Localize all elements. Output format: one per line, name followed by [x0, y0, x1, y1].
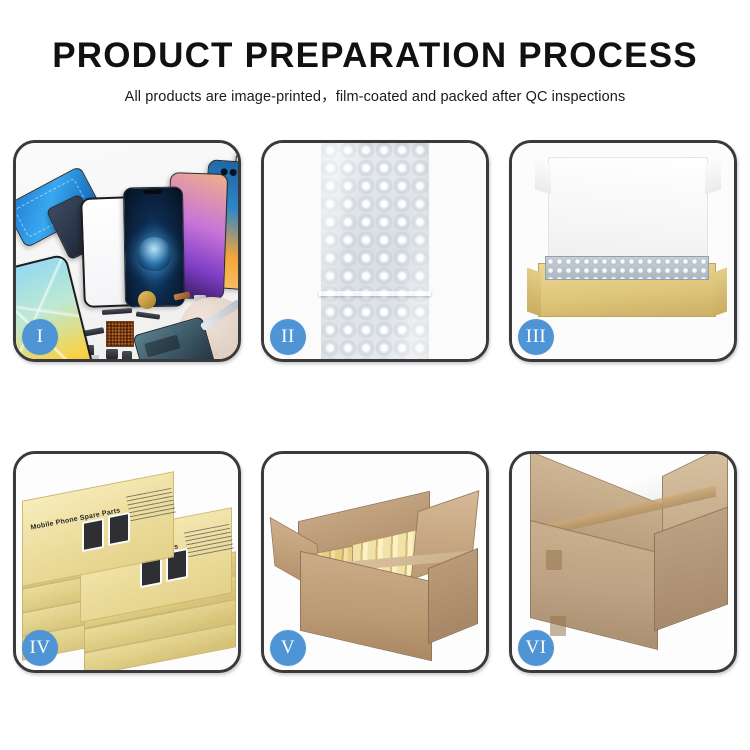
background-right	[424, 143, 486, 359]
process-step-2: II	[261, 140, 489, 362]
phone-notch	[143, 190, 163, 194]
step-badge-1: I	[22, 319, 58, 355]
jellyfish-wallpaper	[137, 237, 172, 272]
process-step-grid: I II III	[0, 138, 750, 683]
carton-tape-tab-lower	[550, 616, 566, 636]
plastic-sheen	[321, 143, 429, 359]
process-step-1: I	[13, 140, 241, 362]
part-vibrator	[122, 351, 132, 359]
process-step-4: Mobile Phone Spare Parts Mobile Phone Sp…	[13, 451, 241, 673]
step-badge-6: VI	[518, 630, 554, 666]
page-title: PRODUCT PREPARATION PROCESS	[0, 0, 750, 76]
part-antenna-flex	[136, 311, 160, 319]
phone-jellyfish-wallpaper	[123, 186, 185, 307]
tray-flap-left	[527, 267, 541, 316]
page-subtitle: All products are image-printed，film-coat…	[0, 76, 750, 106]
process-step-6: VI	[509, 451, 737, 673]
carton-tape-tab-upper	[546, 550, 562, 570]
kraft-box-stack: Mobile Phone Spare Parts Mobile Phone Sp…	[22, 466, 238, 666]
step-badge-4: IV	[22, 630, 58, 666]
step-badge-2: II	[270, 319, 306, 355]
part-speaker-coil	[138, 291, 156, 309]
process-step-5: V	[261, 451, 489, 673]
part-button-cap	[106, 349, 118, 359]
page-header: PRODUCT PREPARATION PROCESS All products…	[0, 0, 750, 106]
bubble-wrapped-contents	[545, 256, 709, 280]
step-badge-5: V	[270, 630, 306, 666]
part-contact-grid	[106, 321, 134, 347]
kraft-box-tray	[538, 263, 716, 317]
process-step-3: III	[509, 140, 737, 362]
tray-flap-right	[713, 267, 727, 316]
bubble-wrap-seam	[319, 291, 431, 296]
step-badge-3: III	[518, 319, 554, 355]
part-flex-strip	[102, 308, 132, 315]
box-artwork-back-1	[108, 512, 130, 546]
box-artwork-front-1	[82, 518, 104, 552]
